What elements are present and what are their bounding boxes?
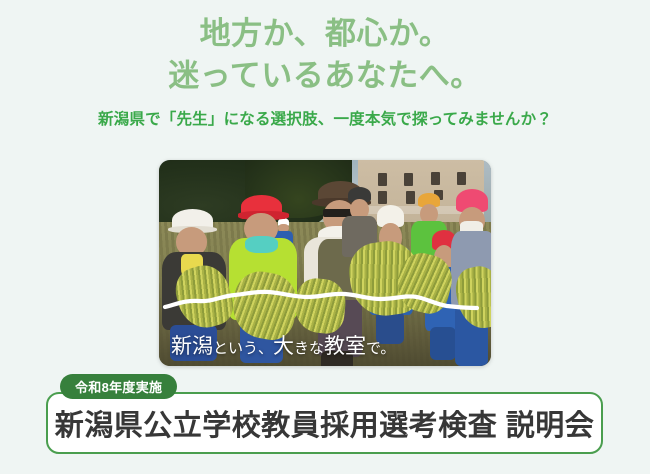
- hero-photo-card: 新潟という、大きな教室で。: [159, 160, 491, 366]
- photo-building-window: [431, 172, 440, 185]
- headline-line-2: 迷っているあなたへ。: [0, 55, 650, 97]
- photo-building-window: [457, 172, 466, 185]
- photo-person-collar: [245, 236, 277, 252]
- photo-building-window: [378, 191, 387, 204]
- photo-caption-part: 大: [273, 334, 294, 358]
- photo-building-window: [404, 173, 413, 186]
- headline-line-1: 地方か、都心か。: [0, 13, 650, 55]
- event-banner-title: 新潟県公立学校教員採用選考検査 説明会: [48, 394, 601, 452]
- hero-photo-image: 新潟という、大きな教室で。: [159, 160, 491, 366]
- photo-caption-part: きな: [294, 339, 324, 357]
- photo-caption-part: で。: [366, 339, 395, 357]
- page-headline: 地方か、都心か。 迷っているあなたへ。: [0, 13, 650, 97]
- page-subtitle: 新潟県で「先生」になる選択肢、一度本気で探ってみませんか？: [0, 110, 650, 130]
- photo-caption-part: 新潟: [171, 334, 213, 358]
- page-root: 地方か、都心か。 迷っているあなたへ。 新潟県で「先生」になる選択肢、一度本気で…: [0, 0, 650, 474]
- photo-caption-part: 教室: [324, 334, 366, 358]
- event-banner-badge: 令和8年度実施: [60, 374, 177, 399]
- event-banner: 新潟県公立学校教員採用選考検査 説明会: [46, 392, 603, 454]
- photo-building-window: [378, 173, 387, 186]
- photo-caption: 新潟という、大きな教室で。: [171, 334, 395, 360]
- photo-caption-part: という、: [213, 339, 273, 357]
